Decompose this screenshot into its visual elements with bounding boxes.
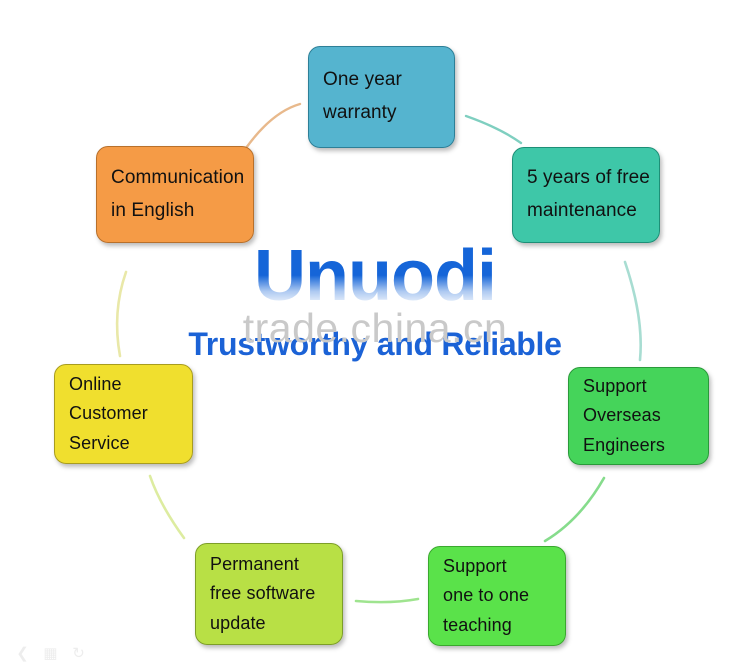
node-online-customer-service[interactable]: OnlineCustomerService <box>54 364 193 464</box>
node-communication-in-english[interactable]: Communicationin English <box>96 146 254 243</box>
image-icon: ▦ <box>42 646 59 661</box>
arrow-update-to-service <box>150 476 184 538</box>
node-line: 5 years of free <box>527 162 650 195</box>
node-line: Online <box>69 370 122 399</box>
brand-tagline: Trustworthy and Reliable <box>0 326 750 363</box>
node-line: Overseas <box>583 401 661 430</box>
node-line: Service <box>69 429 130 458</box>
infographic-canvas: Unuodi Trustworthy and Reliable One year… <box>0 0 750 671</box>
node-line: Engineers <box>583 431 665 460</box>
node-support-overseas-engineers[interactable]: SupportOverseasEngineers <box>568 367 709 465</box>
node-line: Support <box>443 552 507 581</box>
node-line: maintenance <box>527 195 637 228</box>
arrow-overseas-to-teaching <box>545 478 604 541</box>
node-line: Permanent <box>210 550 299 579</box>
node-line: Support <box>583 372 647 401</box>
node-line: warranty <box>323 97 397 130</box>
node-line: update <box>210 609 266 638</box>
node-line: One year <box>323 64 402 97</box>
node-line: in English <box>111 195 194 228</box>
arrow-communication-to-warranty <box>246 104 300 148</box>
brand-block: Unuodi Trustworthy and Reliable <box>0 243 750 363</box>
node-line: teaching <box>443 611 512 640</box>
arrow-warranty-to-maintenance <box>466 116 521 143</box>
brand-name: Unuodi <box>0 243 750 305</box>
node-line: one to one <box>443 581 529 610</box>
node-line: Customer <box>69 399 148 428</box>
node-support-one-to-one-teaching[interactable]: Supportone to oneteaching <box>428 546 566 646</box>
share-icon: ❮ <box>14 646 31 661</box>
watermark-icon-group: ❮ ▦ ↻ <box>14 646 87 661</box>
node-line: Communication <box>111 162 244 195</box>
node-permanent-free-software-update[interactable]: Permanentfree softwareupdate <box>195 543 343 645</box>
node-line: free software <box>210 579 315 608</box>
node-five-years-free-maintenance[interactable]: 5 years of freemaintenance <box>512 147 660 243</box>
node-one-year-warranty[interactable]: One yearwarranty <box>308 46 455 148</box>
arrow-teaching-to-update <box>356 599 418 602</box>
refresh-icon: ↻ <box>70 646 87 661</box>
